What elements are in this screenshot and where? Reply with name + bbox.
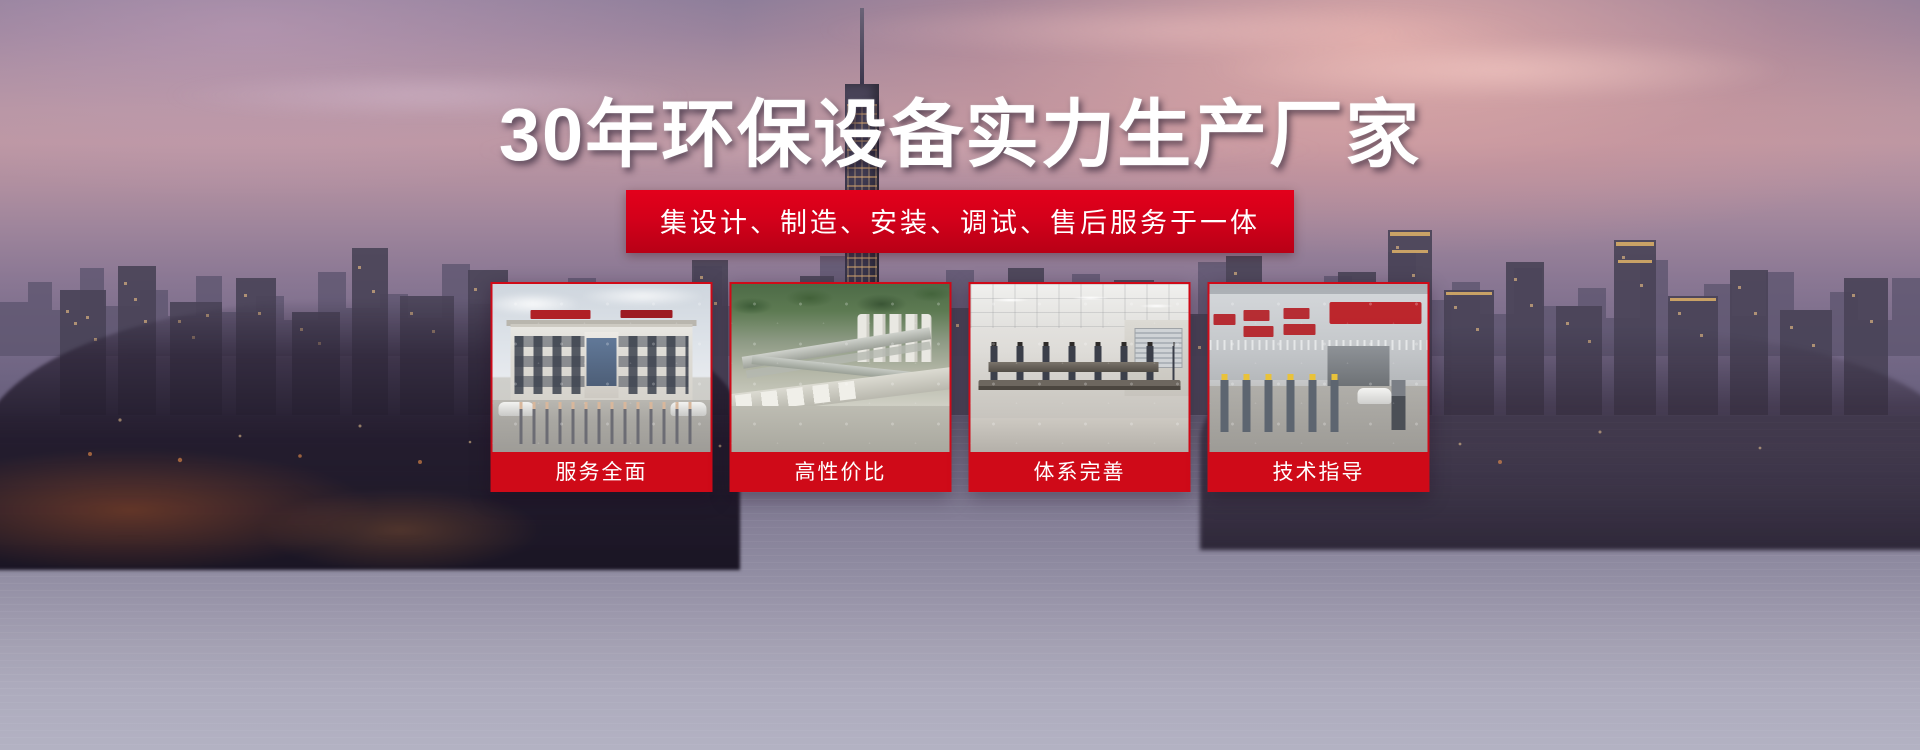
banner-subtitle-bar: 集设计、制造、安装、调试、售后服务于一体: [626, 190, 1294, 253]
hero-banner: 30年环保设备实力生产厂家 集设计、制造、安装、调试、售后服务于一体 服务全面: [0, 0, 1920, 750]
aerial-plant-facility-photo: [732, 284, 950, 452]
feature-card-1[interactable]: 服务全面: [491, 282, 713, 492]
feature-card-4[interactable]: 技术指导: [1208, 282, 1430, 492]
factory-workers-photo: [1210, 284, 1428, 452]
company-sign: [531, 310, 591, 319]
feature-card-caption: 体系完善: [971, 452, 1189, 490]
tower-spire: [860, 8, 864, 88]
feature-card-caption: 高性价比: [732, 452, 950, 490]
feature-card-caption: 技术指导: [1210, 452, 1428, 490]
feature-card-caption: 服务全面: [493, 452, 711, 490]
banner-headline: 30年环保设备实力生产厂家: [0, 98, 1920, 172]
feature-card-row: 服务全面 高性价比 体系完善: [491, 282, 1430, 492]
factory-slogan-sign: [1330, 302, 1422, 324]
feature-card-2[interactable]: 高性价比: [730, 282, 952, 492]
open-plan-office-photo: [971, 284, 1189, 452]
feature-card-3[interactable]: 体系完善: [969, 282, 1191, 492]
phone-sign: [621, 310, 673, 318]
office-building-staff-photo: [493, 284, 711, 452]
